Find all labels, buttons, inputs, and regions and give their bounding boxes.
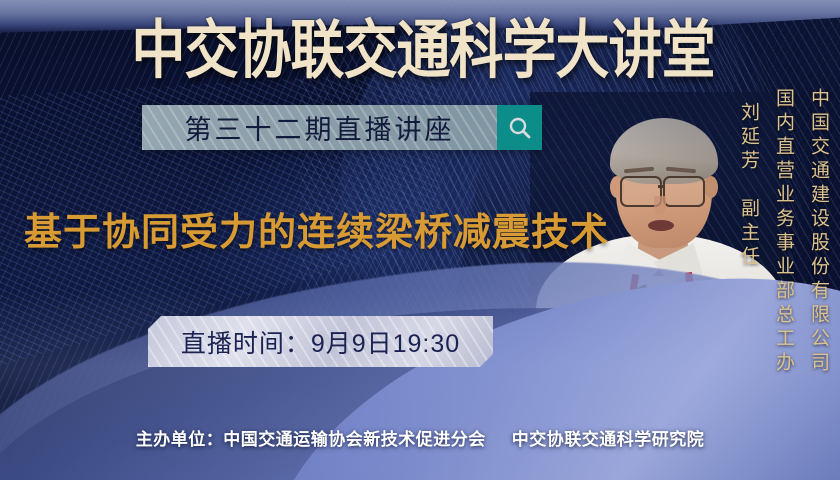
subtitle-banner-body: 第三十二期直播讲座 xyxy=(142,105,497,150)
footer-organizer-1: 中国交通运输协会新技术促进分会 xyxy=(223,425,486,450)
subtitle-banner-label: 第三十二期直播讲座 xyxy=(185,108,455,147)
subtitle-banner: 第三十二期直播讲座 xyxy=(142,105,542,150)
footer-label: 主办单位： xyxy=(136,425,224,450)
broadcast-time-label: 直播时间：9月9日19:30 xyxy=(181,324,460,360)
lecture-poster: 中交协联交通科学大讲堂 第三十二期直播讲座 基于协同受力的连续梁桥减震技术 直播… xyxy=(0,0,840,480)
speaker-department: 国内直营业务事业部总工办 xyxy=(770,88,797,376)
speaker-credits: 刘延芳 副主任 国内直营业务事业部总工办 中国交通建设股份有限公司 xyxy=(725,88,832,376)
footer-organizer-2: 中交协联交通科学研究院 xyxy=(512,425,705,450)
speaker-ear-right xyxy=(704,176,718,198)
speaker-nose xyxy=(654,196,666,214)
glasses-bridge xyxy=(658,185,665,188)
lecture-headline: 基于协同受力的连续梁桥减震技术 xyxy=(24,204,594,252)
footer-organizers: 主办单位： 中国交通运输协会新技术促进分会 中交协联交通科学研究院 xyxy=(0,424,840,450)
speaker-name-and-title: 刘延芳 副主任 xyxy=(735,88,762,270)
speaker-mouth xyxy=(648,220,674,231)
search-icon[interactable] xyxy=(497,105,542,150)
glasses-lens-right xyxy=(663,176,705,207)
page-title: 中交协联交通科学大讲堂 xyxy=(108,14,738,87)
speaker-organization: 中国交通建设股份有限公司 xyxy=(805,88,832,376)
broadcast-time-box: 直播时间：9月9日19:30 xyxy=(148,316,493,367)
